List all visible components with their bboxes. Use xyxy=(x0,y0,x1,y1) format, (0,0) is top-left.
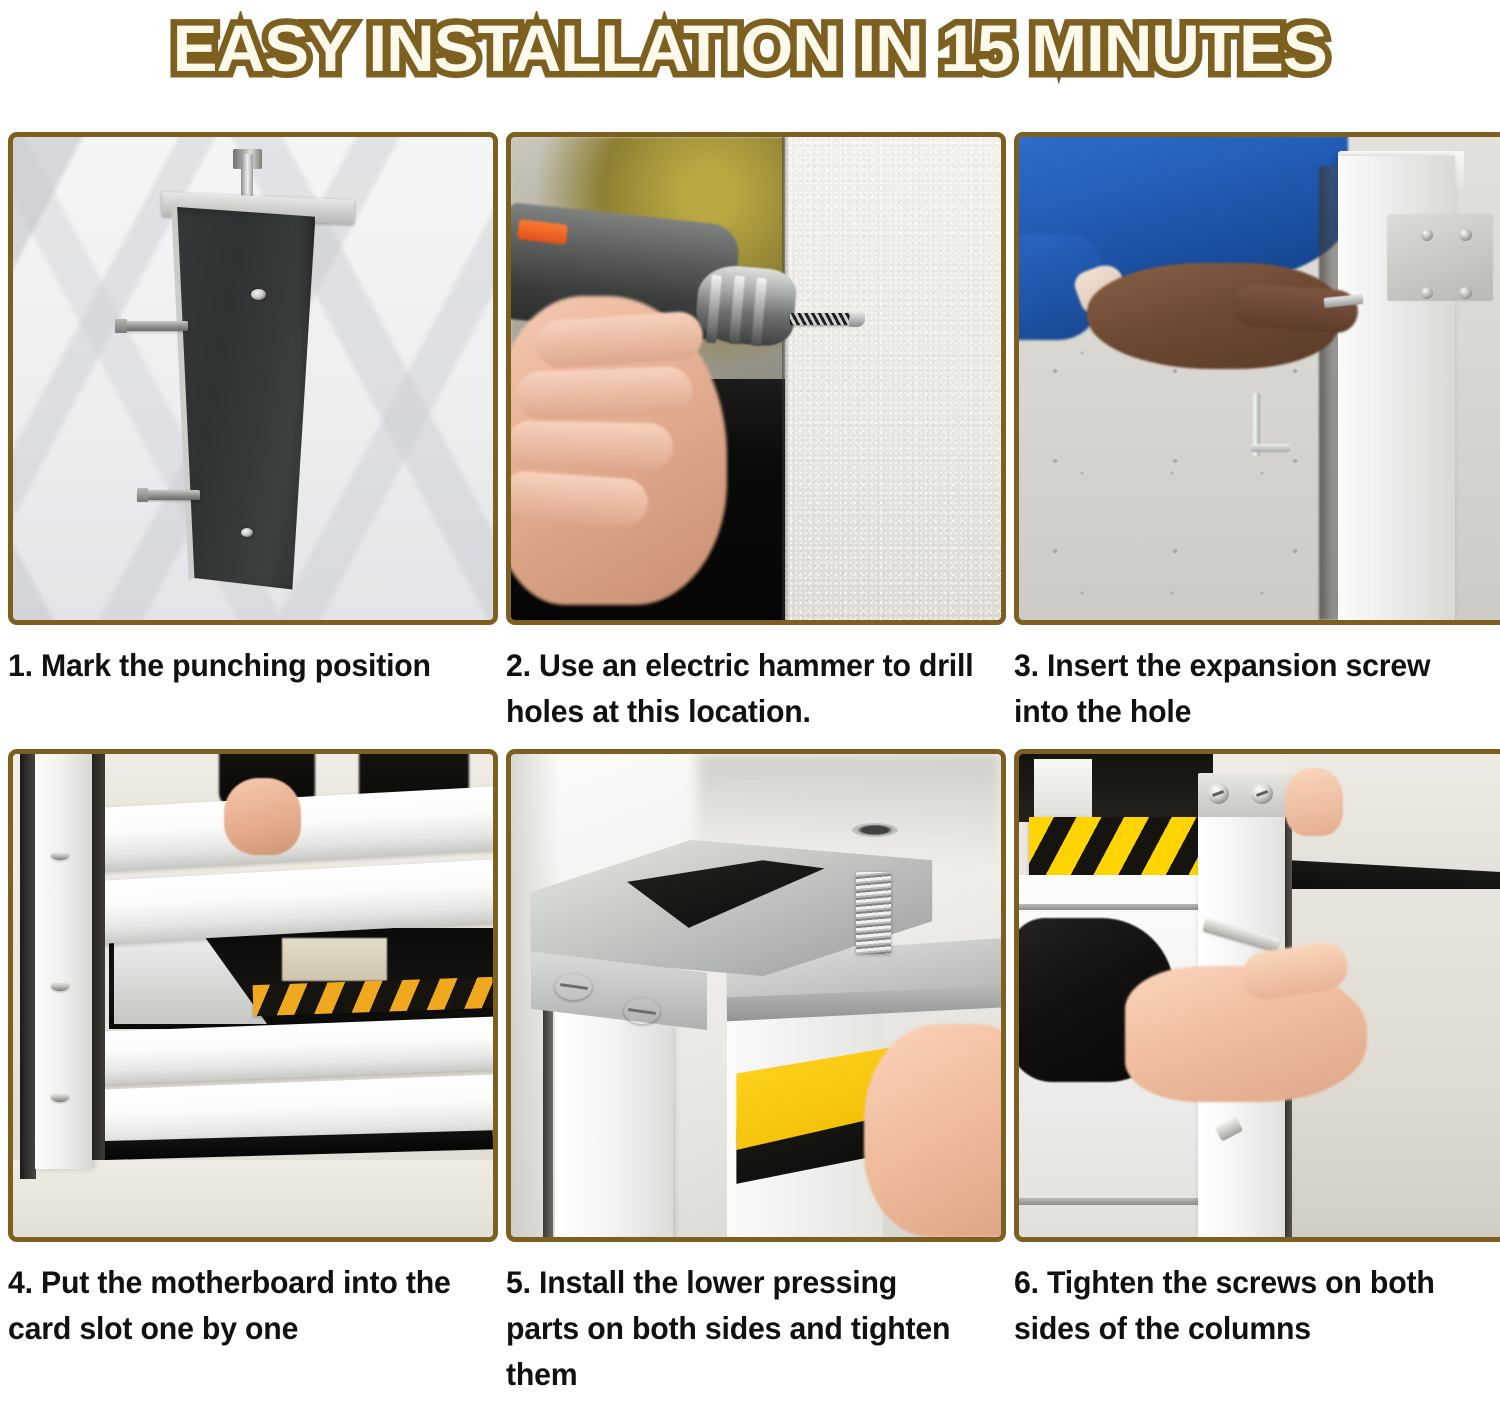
finger-2 xyxy=(515,366,693,420)
step-1: 1. Mark the punching position xyxy=(8,132,498,735)
step-6-photo-frame xyxy=(1014,749,1500,1242)
step-3-caption: 3. Insert the expansion screw into the h… xyxy=(1014,643,1488,735)
page-title: EASY INSTALLATION IN 15 MINUTES xyxy=(173,15,1327,81)
post-inner-rail xyxy=(92,754,104,1160)
drill-bit xyxy=(790,313,851,325)
step-1-photo-frame xyxy=(8,132,498,625)
step-6: 6. Tighten the screws on both sides of t… xyxy=(1014,749,1500,1398)
column-screw-top-left xyxy=(1208,783,1229,804)
step-4-photo-frame xyxy=(8,749,498,1242)
background-beige-block xyxy=(282,938,388,981)
supporting-hand xyxy=(1285,768,1343,836)
step-2-caption: 2. Use an electric hammer to drill holes… xyxy=(506,643,986,735)
step-6-photo xyxy=(1019,754,1500,1237)
step-5-photo xyxy=(511,754,1001,1237)
worker-fingers xyxy=(1231,282,1360,334)
bracket-screw-2 xyxy=(624,998,661,1024)
step-2: 2. Use an electric hammer to drill holes… xyxy=(506,132,1006,735)
bracket-screw-1 xyxy=(555,974,592,1000)
panel-seam-3 xyxy=(1019,1198,1213,1205)
installer-hand xyxy=(864,1024,1001,1237)
thumbscrew-shaft xyxy=(856,872,890,954)
card-slot-post xyxy=(35,754,93,1169)
panel-seam-1 xyxy=(1019,904,1213,911)
step-3-photo-frame xyxy=(1014,132,1500,625)
drill-bit-tip xyxy=(849,312,865,327)
steps-grid: 1. Mark the punching position xyxy=(8,132,1492,1398)
step-3-photo xyxy=(1019,137,1500,620)
allen-key-horizontal xyxy=(1251,444,1290,452)
step-5-caption: 5. Install the lower pressing parts on b… xyxy=(506,1260,986,1398)
column-screw-top-right xyxy=(1251,783,1272,804)
bracket-bolt-head-lower xyxy=(137,488,149,502)
column-mounting-plate xyxy=(1387,214,1493,301)
step-4-photo xyxy=(13,754,493,1237)
step-2-photo-frame xyxy=(506,132,1006,625)
step-3: 3. Insert the expansion screw into the h… xyxy=(1014,132,1500,735)
step-1-photo xyxy=(13,137,493,620)
upper-white-block xyxy=(1034,759,1092,822)
step-5-photo-frame xyxy=(506,749,1006,1242)
finger-3 xyxy=(511,421,673,472)
thumbscrew-socket xyxy=(852,823,899,837)
post-screw-2 xyxy=(51,981,68,991)
white-wall xyxy=(785,137,1001,620)
post-dark-rail xyxy=(20,754,35,1179)
step-4: 4. Put the motherboard into the card slo… xyxy=(8,749,498,1398)
page-title-bar: EASY INSTALLATION IN 15 MINUTES xyxy=(0,0,1500,96)
installer-hand xyxy=(224,778,301,855)
post-screw-1 xyxy=(51,851,68,861)
hazard-stripe xyxy=(1029,817,1203,880)
step-4-caption: 4. Put the motherboard into the card slo… xyxy=(8,1260,478,1352)
post-screw-3 xyxy=(51,1092,68,1102)
wall-edge-shadow xyxy=(782,137,789,620)
step-5: 5. Install the lower pressing parts on b… xyxy=(506,749,1006,1398)
step-1-caption: 1. Mark the punching position xyxy=(8,643,478,689)
bracket-bolt-upper xyxy=(116,321,188,331)
finger-4 xyxy=(511,470,650,528)
step-6-caption: 6. Tighten the screws on both sides of t… xyxy=(1014,1260,1488,1352)
installation-guide-page: EASY INSTALLATION IN 15 MINUTES xyxy=(0,0,1500,1403)
floor-surface xyxy=(13,1160,493,1237)
bracket-bolt-head-upper xyxy=(115,319,127,333)
step-2-photo xyxy=(511,137,1001,620)
